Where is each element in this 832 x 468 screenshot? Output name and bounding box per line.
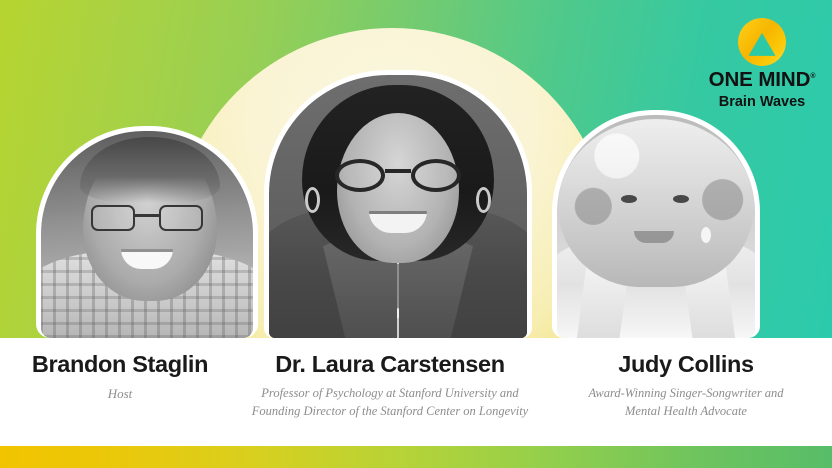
speaker-role-line-2: Mental Health Advocate — [540, 403, 832, 421]
speaker-card-brandon-staglin: Brandon Staglin Host — [0, 338, 240, 446]
registered-trademark-symbol: ® — [810, 73, 815, 80]
logo-wordmark: ONE MIND® — [708, 70, 816, 91]
smile — [634, 231, 674, 243]
speaker-caption-panel: Brandon Staglin Host Dr. Laura Carstense… — [0, 338, 832, 446]
speaker-card-laura-carstensen: Dr. Laura Carstensen Professor of Psycho… — [240, 338, 540, 446]
hoop-earring-right — [476, 187, 491, 213]
hero-banner: ONE MIND® Brain Waves — [0, 0, 832, 338]
speaker-role: Host — [0, 385, 240, 403]
one-mind-triangle-logo-icon — [738, 18, 786, 66]
earring — [701, 227, 711, 243]
eye-left — [621, 195, 637, 203]
lens-right — [411, 159, 461, 192]
portrait-brandon-staglin — [36, 126, 258, 338]
footer-gradient-bar — [0, 446, 832, 468]
lens-left — [335, 159, 385, 192]
portrait-body — [41, 131, 253, 338]
speaker-card-judy-collins: Judy Collins Award-Winning Singer-Songwr… — [540, 338, 832, 446]
lens-right — [159, 205, 203, 231]
eyeglasses-icon — [91, 205, 203, 233]
logo-wordmark-text: ONE MIND — [709, 68, 811, 91]
lens-bridge — [385, 169, 411, 173]
eyeglasses-icon — [335, 159, 461, 193]
portrait-judy-collins — [552, 110, 760, 338]
portrait-body — [557, 115, 755, 338]
speaker-name: Dr. Laura Carstensen — [240, 352, 540, 378]
one-mind-logo[interactable]: ONE MIND® Brain Waves — [708, 18, 816, 109]
speaker-role-line-1: Award-Winning Singer-Songwriter and — [540, 385, 832, 403]
eye-right — [673, 195, 689, 203]
hair — [80, 137, 220, 203]
speaker-role: Professor of Psychology at Stanford Univ… — [240, 385, 540, 421]
portrait-body — [269, 75, 527, 338]
speaker-role-line-1: Professor of Psychology at Stanford Univ… — [240, 385, 540, 403]
lens-bridge — [135, 214, 159, 217]
logo-sub-wordmark: Brain Waves — [708, 95, 816, 110]
speaker-name: Judy Collins — [540, 352, 832, 378]
portrait-laura-carstensen — [264, 70, 532, 338]
speaker-role: Award-Winning Singer-Songwriter and Ment… — [540, 385, 832, 421]
speaker-name: Brandon Staglin — [0, 352, 240, 378]
hair — [558, 119, 754, 287]
lens-left — [91, 205, 135, 231]
speaker-role-line-2: Founding Director of the Stanford Center… — [240, 403, 540, 421]
hoop-earring-left — [305, 187, 320, 213]
promo-graphic: ONE MIND® Brain Waves Brandon Staglin Ho… — [0, 0, 832, 468]
